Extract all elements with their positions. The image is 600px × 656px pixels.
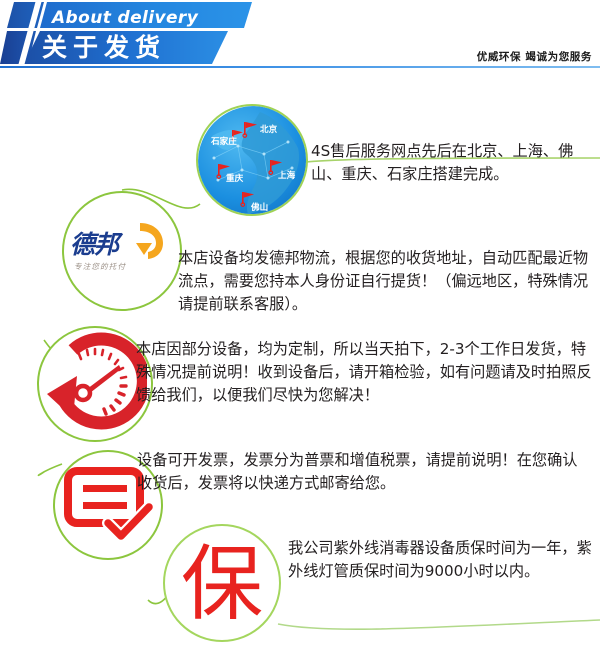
page-header-banner: About delivery 关于发货 优威环保 竭诚为您服务 [0, 0, 600, 72]
delivery-info-page: About delivery 关于发货 优威环保 竭诚为您服务 [0, 0, 600, 656]
globe-city-chongqing: 重庆 [226, 172, 244, 184]
globe-graphic: 北京 石家庄 重庆 上海 佛山 [198, 106, 308, 216]
speedometer-graphic [43, 332, 147, 436]
header-title-english: About delivery [52, 5, 352, 31]
step-network-text: 4S售后服务网点先后在北京、上海、佛山、重庆、石家庄搭建完成。 [311, 140, 591, 186]
globe-city-shanghai: 上海 [278, 169, 296, 181]
globe-icon: 北京 石家庄 重庆 上海 佛山 [196, 104, 308, 216]
header-title-chinese: 关于发货 [42, 31, 342, 65]
debang-logo-icon: 德邦 专注您的托付 [62, 191, 182, 311]
globe-city-beijing: 北京 [260, 123, 278, 135]
step-invoice-text: 设备可开发票，发票分为普票和增值税票，请提前说明！在您确认收货后，发票将以快递方… [137, 449, 592, 495]
bao-warranty-icon: 保 [163, 524, 281, 642]
globe-city-foshan: 佛山 [250, 201, 268, 213]
globe-city-shijiazhuang: 石家庄 [210, 135, 237, 147]
header-divider-rule [0, 66, 600, 68]
header-slogan: 优威环保 竭诚为您服务 [477, 49, 592, 64]
step-logistics-text: 本店设备均发德邦物流，根据您的收货地址，自动匹配最近物流点，需要您持本人身份证自… [178, 247, 593, 316]
step-leadtime-text: 本店因部分设备，均为定制，所以当天拍下，2-3个工作日发货，特殊情况提前说明！收… [136, 338, 594, 407]
debang-tagline: 专注您的托付 [74, 261, 170, 272]
bao-character: 保 [181, 544, 263, 626]
step-warranty-text: 我公司紫外线消毒器设备质保时间为一年，紫外线灯管质保时间为9000小时以内。 [288, 537, 593, 583]
debang-wordmark: 德邦 [70, 231, 146, 259]
